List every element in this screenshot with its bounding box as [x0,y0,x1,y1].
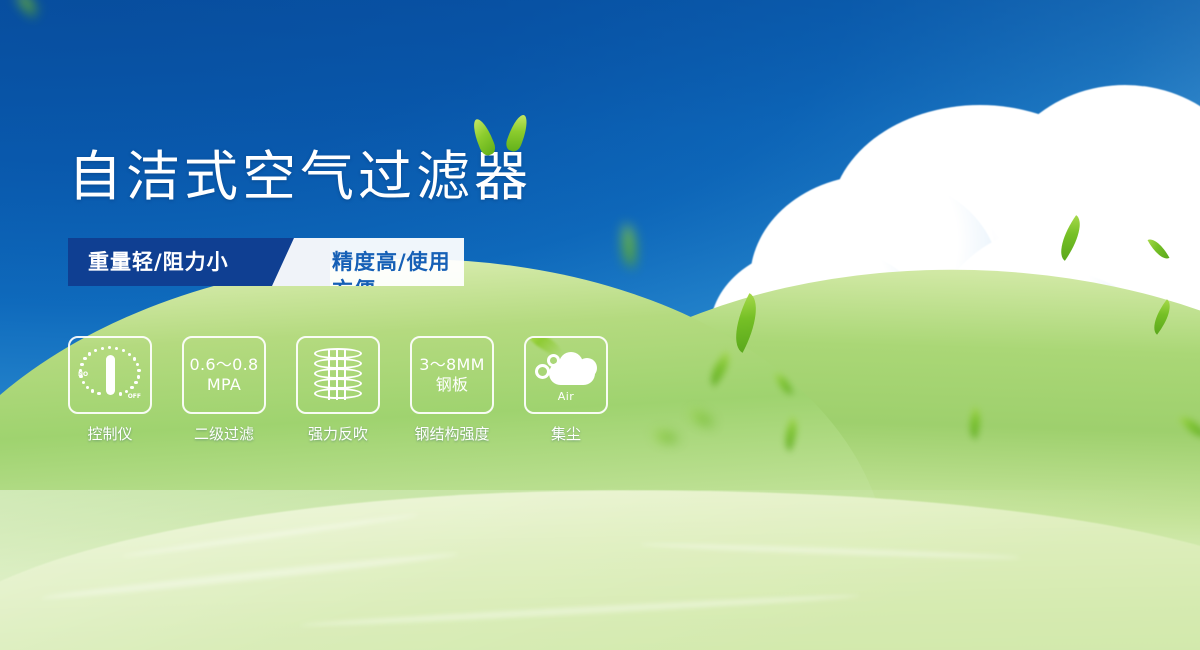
filter-cartridge-icon [314,346,362,404]
feature-item-two-stage-filter[interactable]: 0.6～0.8 MPA 二级过滤 [182,336,266,443]
feature-icon-box [296,336,380,414]
steel-text-icon: 3～8MM 钢板 [419,355,484,395]
feature-item-dust-collection[interactable]: Air 集尘 [524,336,608,443]
feature-icon-box: NO OFF [68,336,152,414]
feature-item-controller[interactable]: NO OFF 控制仪 [68,336,152,443]
gauge-label-no: NO [78,371,88,378]
product-banner: 自洁式空气过滤器 精度高/使用方便 重量轻/阻力小 [0,0,1200,650]
subtitle-bar: 精度高/使用方便 重量轻/阻力小 [68,238,464,286]
page-title: 自洁式空气过滤器 [68,146,532,208]
gauge-needle [106,355,115,395]
subtitle-left-text: 重量轻/阻力小 [88,248,229,276]
pressure-range-line1: 0.6～0.8 [190,355,259,374]
feature-icon-box: Air [524,336,608,414]
feature-icon-box: 0.6～0.8 MPA [182,336,266,414]
gauge-icon: NO OFF [78,346,142,404]
feature-label: 集尘 [551,425,581,443]
grass-meadow [0,420,1200,650]
feature-item-pulse-blowback[interactable]: 强力反吹 [296,336,380,443]
field-light-sheen [0,490,1200,650]
steel-material-line2: 钢板 [419,375,484,395]
pressure-unit-line2: MPA [190,375,259,395]
feature-label: 钢结构强度 [414,425,489,443]
title-leaf-pair-icon [470,112,540,158]
feature-label: 二级过滤 [194,425,254,443]
feature-label: 强力反吹 [308,425,368,443]
steel-thickness-line1: 3～8MM [419,355,484,374]
feature-item-steel-strength[interactable]: 3～8MM 钢板 钢结构强度 [410,336,494,443]
feature-label: 控制仪 [87,425,132,443]
pressure-text-icon: 0.6～0.8 MPA [190,355,259,395]
gauge-label-off: OFF [128,393,141,400]
feature-list: NO OFF 控制仪 0.6～0.8 MPA 二级过滤 [68,336,608,443]
feature-icon-box: 3～8MM 钢板 [410,336,494,414]
air-label: Air [558,390,575,403]
cloud-air-icon [535,348,597,388]
